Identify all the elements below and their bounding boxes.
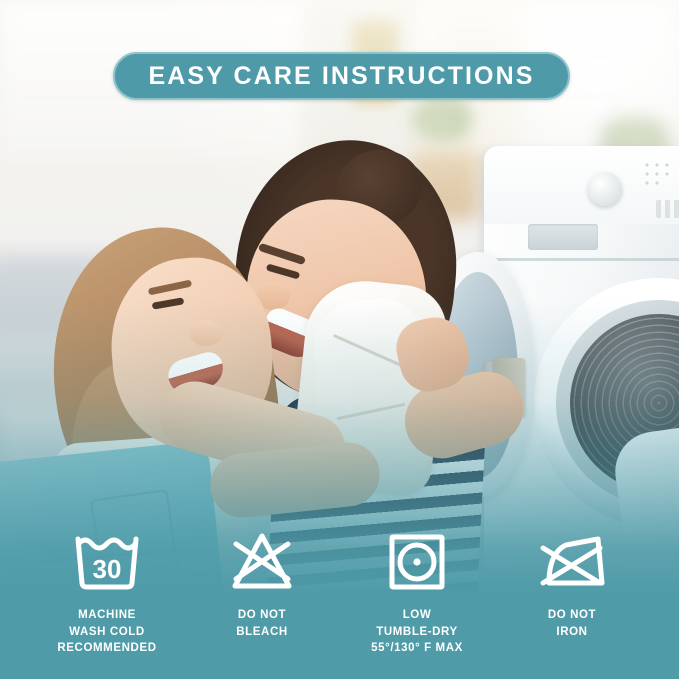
washing-machine-bars — [656, 200, 679, 218]
care-label-line: DO NOT — [548, 607, 596, 624]
care-label-line: TUMBLE-DRY — [371, 624, 463, 641]
care-item-tumble-dry: LOW TUMBLE-DRY 55°/130° F MAX — [340, 527, 495, 657]
care-label-tumble-dry: LOW TUMBLE-DRY 55°/130° F MAX — [371, 607, 463, 657]
do-not-iron-icon — [536, 527, 608, 595]
care-instructions-graphic: EASY CARE INSTRUCTIONS 30 MACHINE WASH C… — [0, 0, 679, 679]
care-label-line: MACHINE — [57, 607, 156, 624]
care-label-machine-wash: MACHINE WASH COLD RECOMMENDED — [57, 607, 156, 657]
washing-machine-dots — [642, 160, 679, 194]
washing-machine-knob — [588, 172, 622, 206]
care-label-line: WASH COLD — [57, 624, 156, 641]
care-label-do-not-bleach: DO NOT BLEACH — [236, 607, 288, 640]
tumble-dry-low-icon — [384, 527, 450, 595]
do-not-bleach-icon — [229, 527, 295, 595]
care-label-line: BLEACH — [236, 624, 288, 641]
care-instructions-row: 30 MACHINE WASH COLD RECOMMENDED DO NOT … — [0, 527, 679, 667]
care-label-do-not-iron: DO NOT IRON — [548, 607, 596, 640]
wash-tub-30-icon: 30 — [74, 527, 140, 595]
plant-decor — [412, 96, 472, 142]
care-label-line: RECOMMENDED — [57, 640, 156, 657]
care-item-machine-wash: 30 MACHINE WASH COLD RECOMMENDED — [30, 527, 185, 657]
care-label-line: 55°/130° F MAX — [371, 640, 463, 657]
detergent-drawer — [528, 224, 598, 250]
wash-temperature-value: 30 — [93, 554, 122, 584]
care-label-line: IRON — [548, 624, 596, 641]
care-label-line: LOW — [371, 607, 463, 624]
care-label-line: DO NOT — [236, 607, 288, 624]
washing-machine-seam — [484, 258, 679, 261]
care-item-do-not-iron: DO NOT IRON — [495, 527, 650, 640]
title-banner-label: EASY CARE INSTRUCTIONS — [148, 64, 534, 89]
care-item-do-not-bleach: DO NOT BLEACH — [185, 527, 340, 640]
title-banner: EASY CARE INSTRUCTIONS — [113, 52, 570, 100]
